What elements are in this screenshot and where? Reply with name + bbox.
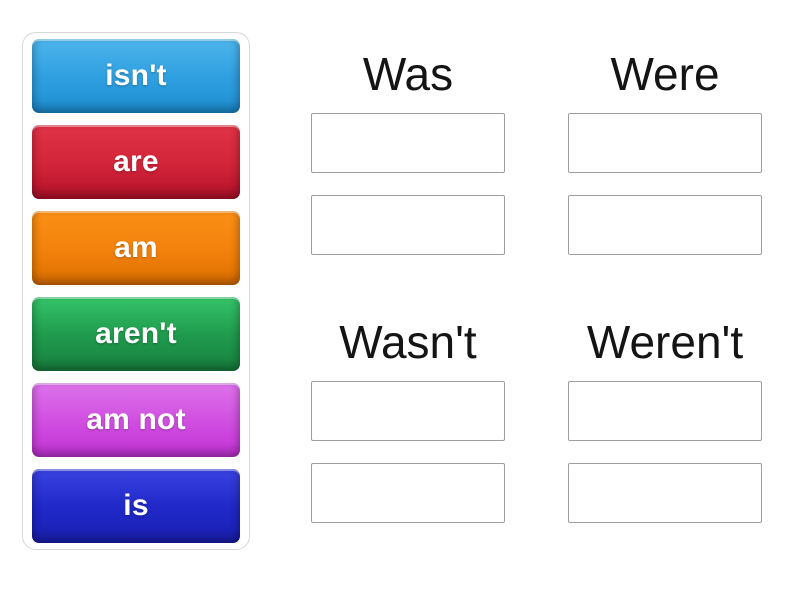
dropzone-werent-2[interactable] (568, 463, 762, 523)
category-title: Was (311, 50, 505, 99)
word-tile-am-not[interactable]: am not (32, 383, 240, 457)
category-werent: Weren't (568, 318, 762, 523)
category-title: Weren't (568, 318, 762, 367)
category-were: Were (568, 50, 762, 255)
word-tile-are[interactable]: are (32, 125, 240, 199)
dropzone-wasnt-2[interactable] (311, 463, 505, 523)
dropzone-were-1[interactable] (568, 113, 762, 173)
word-tile-label: am (114, 231, 158, 265)
category-was: Was (311, 50, 505, 255)
word-tile-arent[interactable]: aren't (32, 297, 240, 371)
word-tile-label: is (123, 489, 148, 523)
word-tile-isnt[interactable]: isn't (32, 39, 240, 113)
dropzone-was-1[interactable] (311, 113, 505, 173)
activity-stage: isn't are am aren't am not is Was Were W… (0, 0, 800, 600)
word-tile-is[interactable]: is (32, 469, 240, 543)
word-tile-label: isn't (105, 59, 166, 93)
dropzone-werent-1[interactable] (568, 381, 762, 441)
word-tile-label: am not (86, 403, 186, 437)
word-tile-am[interactable]: am (32, 211, 240, 285)
category-wasnt: Wasn't (311, 318, 505, 523)
dropzone-was-2[interactable] (311, 195, 505, 255)
category-title: Wasn't (311, 318, 505, 367)
dropzone-were-2[interactable] (568, 195, 762, 255)
word-tile-tray: isn't are am aren't am not is (22, 32, 250, 550)
word-tile-label: aren't (95, 317, 177, 351)
dropzone-wasnt-1[interactable] (311, 381, 505, 441)
category-title: Were (568, 50, 762, 99)
word-tile-label: are (113, 145, 159, 179)
